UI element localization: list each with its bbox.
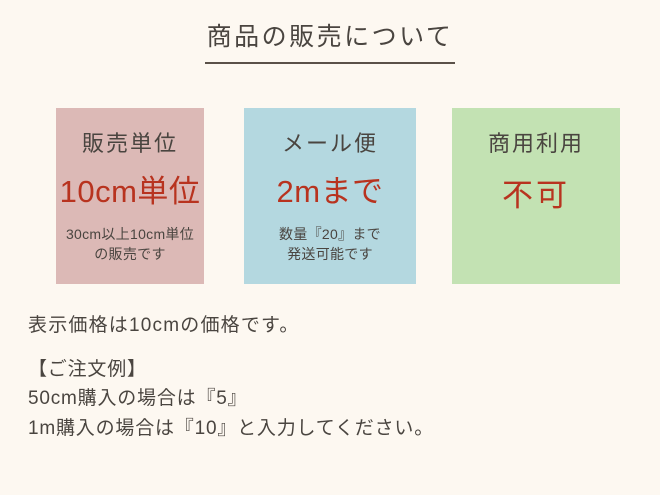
card-sales-unit-note: 30cm以上10cm単位 の販売です (56, 224, 204, 265)
card-commercial-use-heading: 商用利用 (452, 130, 620, 159)
card-mail-service-note-line2: 発送可能です (244, 244, 416, 264)
card-sales-unit-note-line2: の販売です (56, 244, 204, 264)
card-commercial-use: 商用利用 不可 (452, 108, 620, 284)
card-mail-service-highlight: 2mまで (244, 173, 416, 210)
card-mail-service: メール便 2mまで 数量『20』まで 発送可能です (244, 108, 416, 284)
product-sales-info-page: 商品の販売について 販売単位 10cm単位 30cm以上10cm単位 の販売です… (0, 0, 660, 495)
card-sales-unit-highlight: 10cm単位 (56, 173, 204, 210)
page-title: 商品の販売について (207, 22, 454, 53)
order-example-title: 【ご注文例】 (28, 355, 434, 384)
card-sales-unit-note-line1: 30cm以上10cm単位 (56, 224, 204, 244)
card-mail-service-note-line1: 数量『20』まで (244, 224, 416, 244)
card-mail-service-note: 数量『20』まで 発送可能です (244, 224, 416, 265)
card-commercial-use-highlight: 不可 (452, 177, 620, 214)
order-example-line-1: 50cm購入の場合は『5』 (28, 384, 434, 413)
card-mail-service-heading: メール便 (244, 130, 416, 159)
price-note: 表示価格は10cmの価格です。 (28, 313, 300, 340)
order-example-block: 【ご注文例】 50cm購入の場合は『5』 1m購入の場合は『10』と入力してくだ… (28, 355, 434, 443)
card-sales-unit-heading: 販売単位 (56, 130, 204, 159)
info-card-row: 販売単位 10cm単位 30cm以上10cm単位 の販売です メール便 2mまで… (0, 108, 660, 284)
card-sales-unit: 販売単位 10cm単位 30cm以上10cm単位 の販売です (56, 108, 204, 284)
title-underline-divider (205, 62, 455, 64)
page-title-block: 商品の販売について (0, 22, 660, 64)
order-example-line-2: 1m購入の場合は『10』と入力してください。 (28, 414, 434, 443)
